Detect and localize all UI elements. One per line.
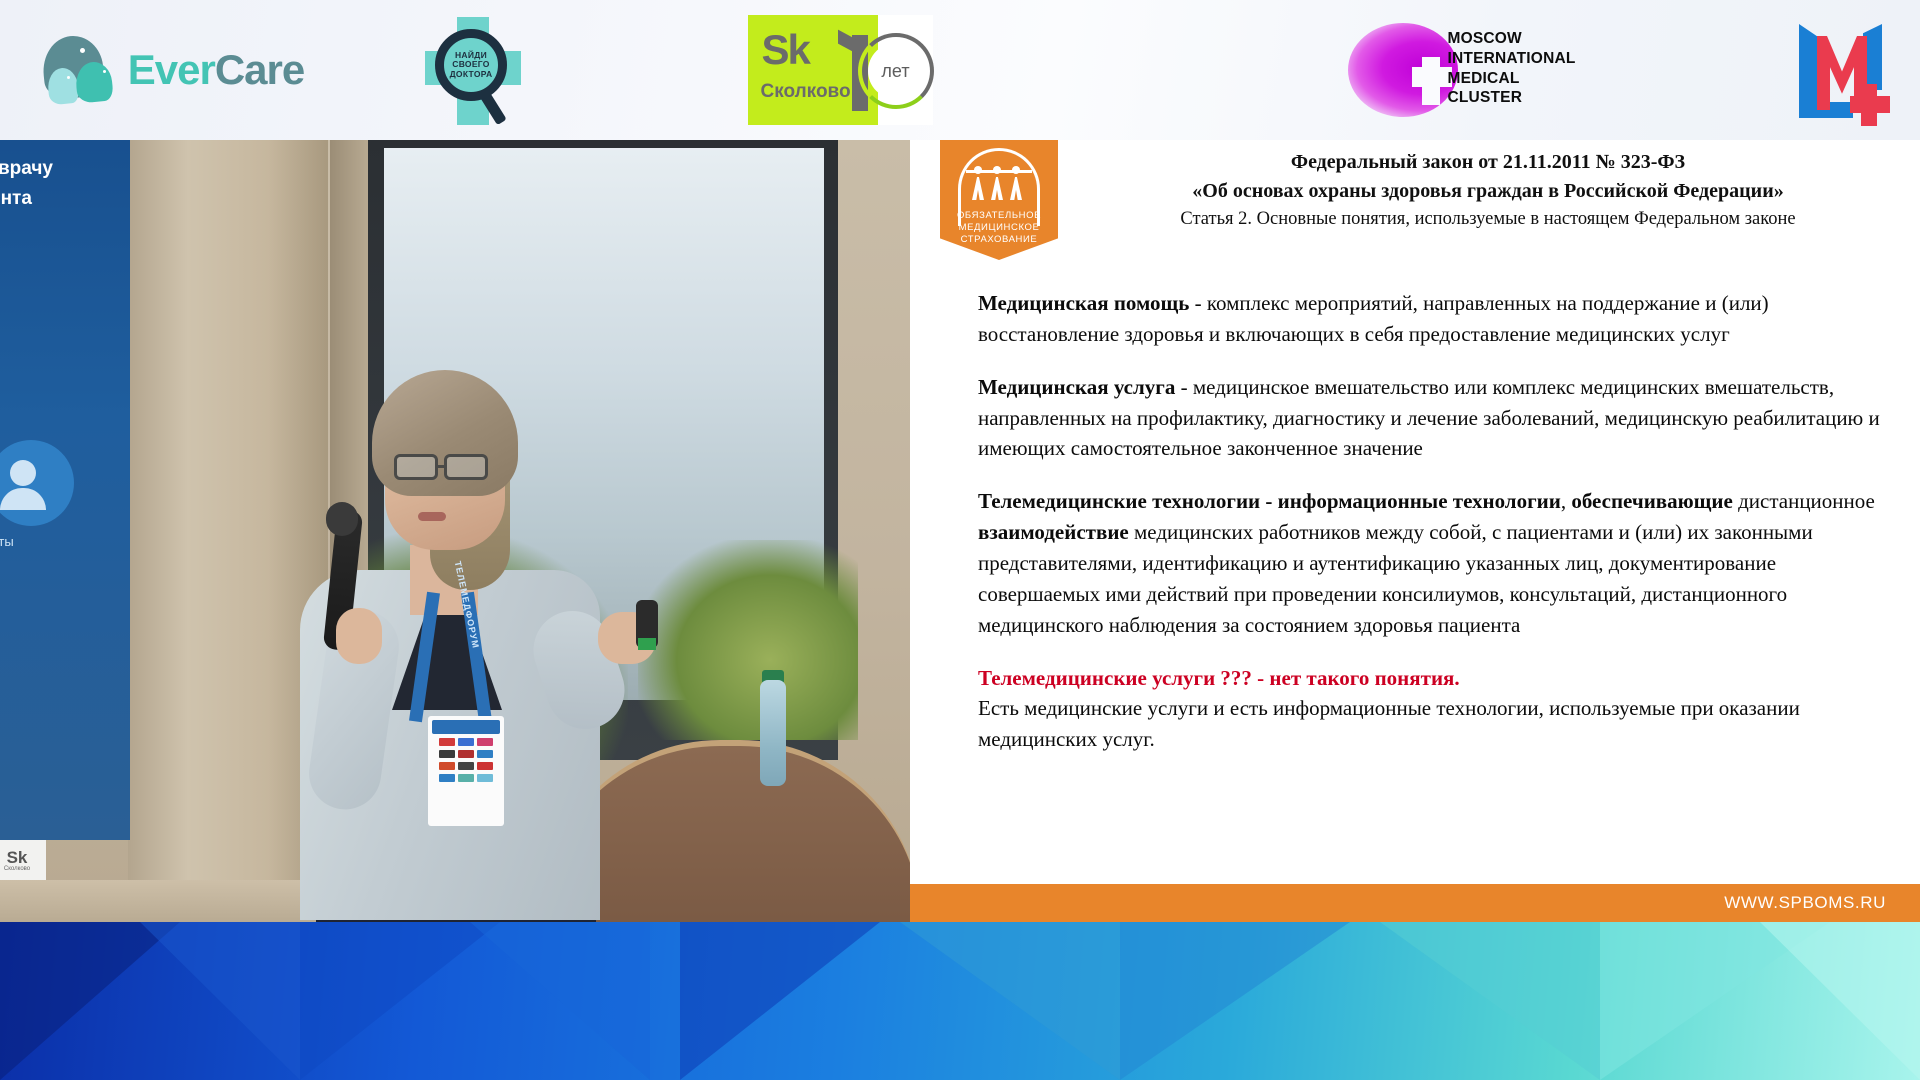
stone-column (128, 140, 328, 900)
skolkovo-name: Сколково (761, 81, 851, 103)
oms-logo: ОБЯЗАТЕЛЬНОЕ МЕДИЦИНСКОЕ СТРАХОВАНИЕ (940, 140, 1058, 260)
anniversary-years-label: лет (868, 43, 924, 99)
logo-find-your-doctor: НАЙДИ СВОЕГО ДОКТОРА (418, 12, 528, 130)
slide-title-article: Статья 2. Основные понятия, используемые… (1070, 206, 1906, 233)
definition-medical-aid: Медицинская помощь - комплекс мероприяти… (978, 288, 1882, 350)
logo-moscow-international-medical-cluster: MOSCOW INTERNATIONAL MEDICAL CLUSTER (1345, 14, 1585, 126)
banner-badge-icon (0, 440, 74, 526)
telemed-bold-3: взаимодействие (978, 520, 1129, 544)
sponsor-logo-bar: EverCare НАЙДИ СВОЕГО ДОКТОРА (0, 0, 1920, 140)
telemed-term: Телемедицинские технологии (978, 489, 1260, 513)
decorative-polygon-band (0, 922, 1920, 1080)
evercare-word-care: Care (215, 46, 304, 93)
banner-text-line-1: врачу (0, 158, 53, 180)
telemed-bold-1: информационные технологии (1278, 489, 1561, 513)
telemed-bold-2: обеспечивающие (1571, 489, 1733, 513)
banner-sk-name: Сколково (4, 866, 30, 872)
presentation-slide: ОБЯЗАТЕЛЬНОЕ МЕДИЦИНСКОЕ СТРАХОВАНИЕ Фед… (910, 140, 1920, 922)
evercare-wordmark: EverCare (128, 46, 304, 94)
rollup-banner: врачу ента енты Sk Сколково (0, 140, 130, 840)
definition-telemedicine-technologies: Телемедицинские технологии - информацион… (978, 486, 1882, 640)
slide-footer: WWW.SPBOMS.RU (910, 884, 1920, 922)
mimc-line-4: CLUSTER (1448, 88, 1576, 108)
slide-body: Медицинская помощь - комплекс мероприяти… (978, 288, 1882, 777)
logo-evercare: EverCare (22, 20, 322, 120)
magnifier-icon: НАЙДИ СВОЕГО ДОКТОРА (435, 29, 507, 101)
definition-medical-service: Медицинская услуга - медицинское вмешате… (978, 372, 1882, 465)
water-bottle (760, 680, 786, 786)
telemed-dash: - (1260, 489, 1278, 513)
banner-skolkovo-badge: Sk Сколково (0, 840, 46, 880)
slide-title-law-name: «Об основах охраны здоровья граждан в Ро… (1070, 177, 1906, 206)
mimc-line-1: MOSCOW (1448, 29, 1576, 49)
definition-term-medical-aid: Медицинская помощь (978, 291, 1189, 315)
banner-sk-mark: Sk (7, 849, 28, 866)
telemed-mid-1: , (1561, 489, 1572, 513)
conclusion-red-text: Телемедицинские услуги ??? - нет такого … (978, 666, 1460, 690)
evercare-birds-icon (40, 32, 118, 108)
mimc-line-3: MEDICAL (1448, 69, 1576, 89)
logo-skolkovo: Sk Сколково лет (745, 14, 935, 126)
oms-arch-figures-icon (958, 148, 1040, 204)
slide-title-block: Федеральный закон от 21.11.2011 № 323-ФЗ… (1070, 148, 1906, 233)
oms-line-3: СТРАХОВАНИЕ (957, 234, 1041, 246)
logo-lm-plus (1790, 16, 1900, 128)
slide-title-law: Федеральный закон от 21.11.2011 № 323-ФЗ (1070, 148, 1906, 177)
conference-badge (428, 716, 504, 826)
fyd-line-3: ДОКТОРА (450, 70, 493, 80)
conclusion-red-line: Телемедицинские услуги ??? - нет такого … (978, 663, 1882, 694)
banner-text-line-2: ента (0, 188, 32, 210)
footer-url[interactable]: WWW.SPBOMS.RU (1724, 893, 1886, 913)
eyeglasses-icon (394, 454, 438, 480)
definition-term-medical-service: Медицинская услуга (978, 375, 1175, 399)
skolkovo-mark: Sk (762, 29, 809, 71)
banner-caption: енты (0, 534, 14, 549)
presentation-screen: EverCare НАЙДИ СВОЕГО ДОКТОРА (0, 0, 1920, 1080)
person-icon (10, 460, 36, 486)
mimc-line-2: INTERNATIONAL (1448, 49, 1576, 69)
telemed-mid-2: дистанционное (1733, 489, 1875, 513)
evercare-word-ever: Ever (128, 46, 215, 93)
conclusion-body: Есть медицинские услуги и есть информаци… (978, 693, 1882, 755)
conference-video-feed: врачу ента енты Sk Сколково (0, 140, 910, 922)
